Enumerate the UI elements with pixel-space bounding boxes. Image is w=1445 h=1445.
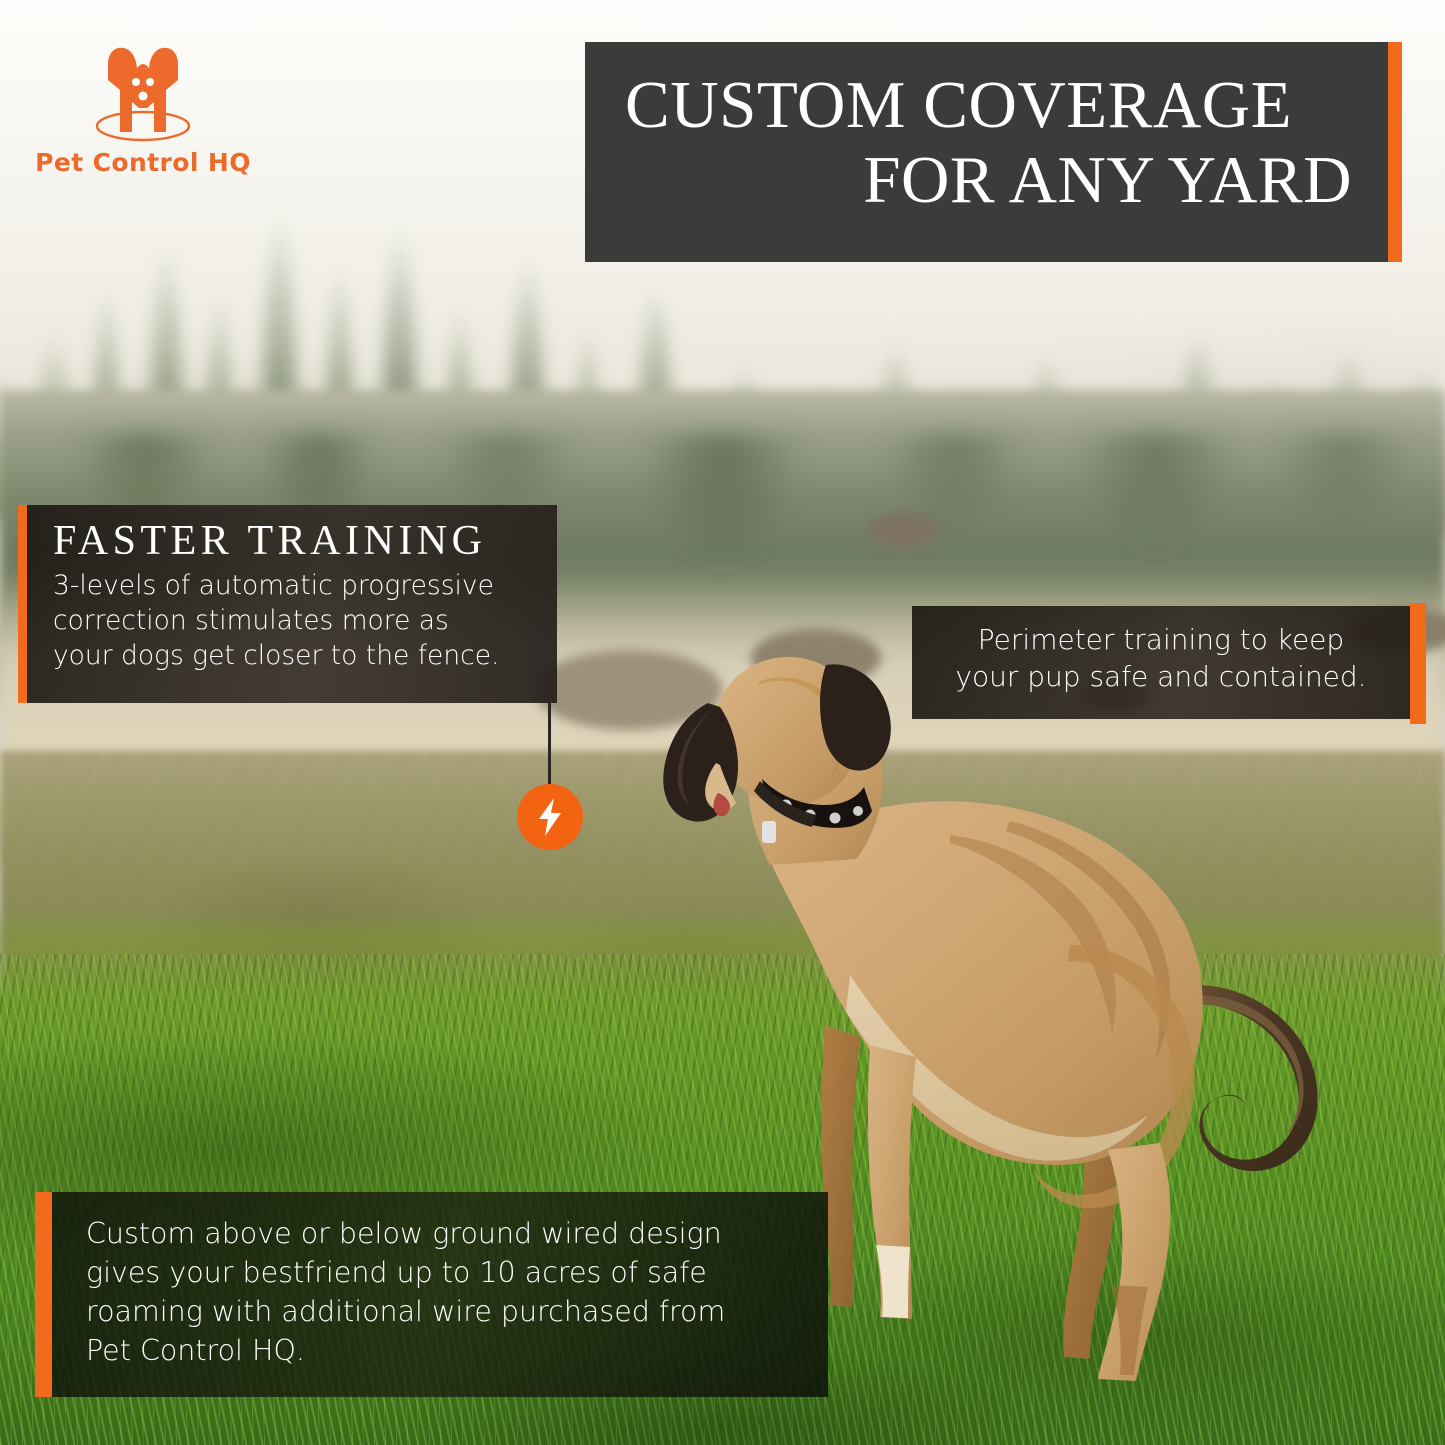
custom-design-body: Custom above or below ground wired desig… (86, 1214, 806, 1370)
body-line: Custom above or below ground wired desig… (86, 1214, 806, 1253)
body-line: gives your bestfriend up to 10 acres of … (86, 1253, 806, 1292)
perimeter-body: Perimeter training to keep your pup safe… (934, 622, 1388, 696)
body-line: roaming with additional wire purchased f… (86, 1292, 806, 1331)
header-text-block: CUSTOM COVERAGE FOR ANY YARD (585, 42, 1388, 262)
callout-accent-bar-left (18, 505, 27, 703)
shore-rock (867, 513, 939, 548)
header-line-1: CUSTOM COVERAGE (625, 68, 1352, 143)
callout-faster-training: FASTER TRAINING 3-levels of automatic pr… (27, 505, 557, 703)
callout-custom-design: Custom above or below ground wired desig… (52, 1192, 828, 1397)
body-line: your dogs get closer to the fence. (53, 639, 531, 674)
callout-accent-bar-left (35, 1192, 52, 1397)
header-accent-bar (1388, 42, 1402, 262)
callout-connector-line (548, 703, 551, 787)
callout-perimeter-training: Perimeter training to keep your pup safe… (912, 606, 1410, 719)
brand-logo[interactable]: Pet Control HQ (28, 36, 258, 177)
body-line: Perimeter training to keep (934, 622, 1388, 659)
lightning-bolt-badge[interactable] (517, 784, 583, 850)
dog-in-hands-logo-icon (28, 36, 258, 146)
callout-accent-bar-right (1410, 603, 1426, 724)
collar-stud (830, 813, 841, 824)
collar-stud (853, 806, 863, 816)
body-line: correction stimulates more as (53, 604, 531, 639)
body-line: Pet Control HQ. (86, 1331, 806, 1370)
brand-name: Pet Control HQ (28, 148, 258, 177)
collar-tag (762, 821, 776, 843)
body-line: your pup safe and contained. (934, 659, 1388, 696)
body-line: 3-levels of automatic progressive (53, 569, 531, 604)
header-line-2: FOR ANY YARD (625, 143, 1352, 218)
product-feature-poster: Pet Control HQ CUSTOM COVERAGE FOR ANY Y… (0, 0, 1445, 1445)
header-banner: CUSTOM COVERAGE FOR ANY YARD (585, 42, 1388, 262)
faster-training-body: 3-levels of automatic progressive correc… (53, 569, 531, 674)
lightning-bolt-icon (535, 798, 565, 836)
faster-training-title: FASTER TRAINING (53, 519, 531, 563)
